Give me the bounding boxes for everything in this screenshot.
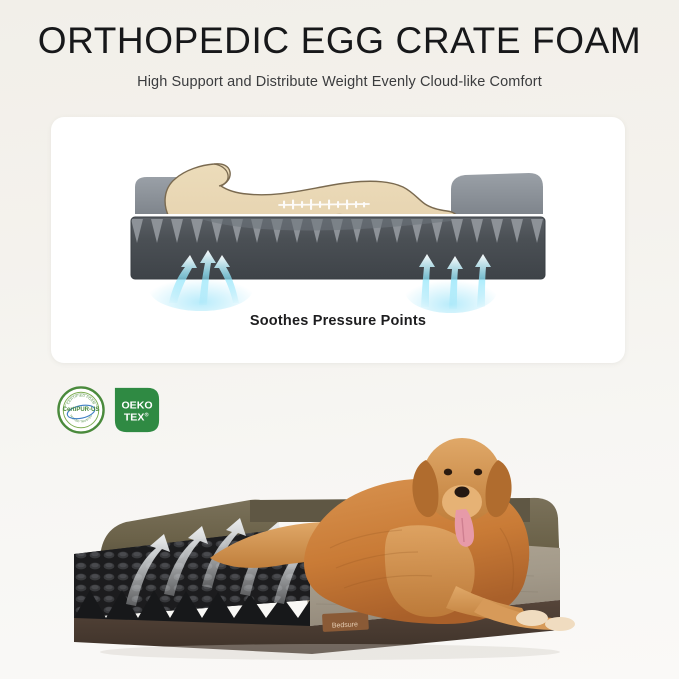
page-title: ORTHOPEDIC EGG CRATE FOAM bbox=[0, 18, 679, 64]
product-photo: Bedsure bbox=[60, 418, 660, 666]
dog-paw-right bbox=[545, 617, 575, 631]
product-infographic-page: ORTHOPEDIC EGG CRATE FOAM High Support a… bbox=[0, 0, 679, 679]
illustration-card: Soothes Pressure Points bbox=[51, 117, 625, 363]
certipur-wordmark: CertiPUR-US bbox=[63, 407, 100, 413]
bolster-right bbox=[451, 173, 543, 217]
brand-tag-label: Bedsure bbox=[332, 621, 359, 629]
product-shadow bbox=[100, 644, 560, 660]
header: ORTHOPEDIC EGG CRATE FOAM High Support a… bbox=[0, 18, 679, 93]
dog-paw-left bbox=[516, 610, 548, 626]
oeko-line1: OEKO bbox=[121, 400, 152, 412]
pressure-point-diagram bbox=[51, 117, 625, 317]
brand-tag: Bedsure bbox=[322, 612, 369, 632]
page-subtitle: High Support and Distribute Weight Evenl… bbox=[0, 71, 679, 93]
product-photo-image: Bedsure bbox=[60, 418, 660, 666]
card-caption: Soothes Pressure Points bbox=[51, 313, 625, 329]
